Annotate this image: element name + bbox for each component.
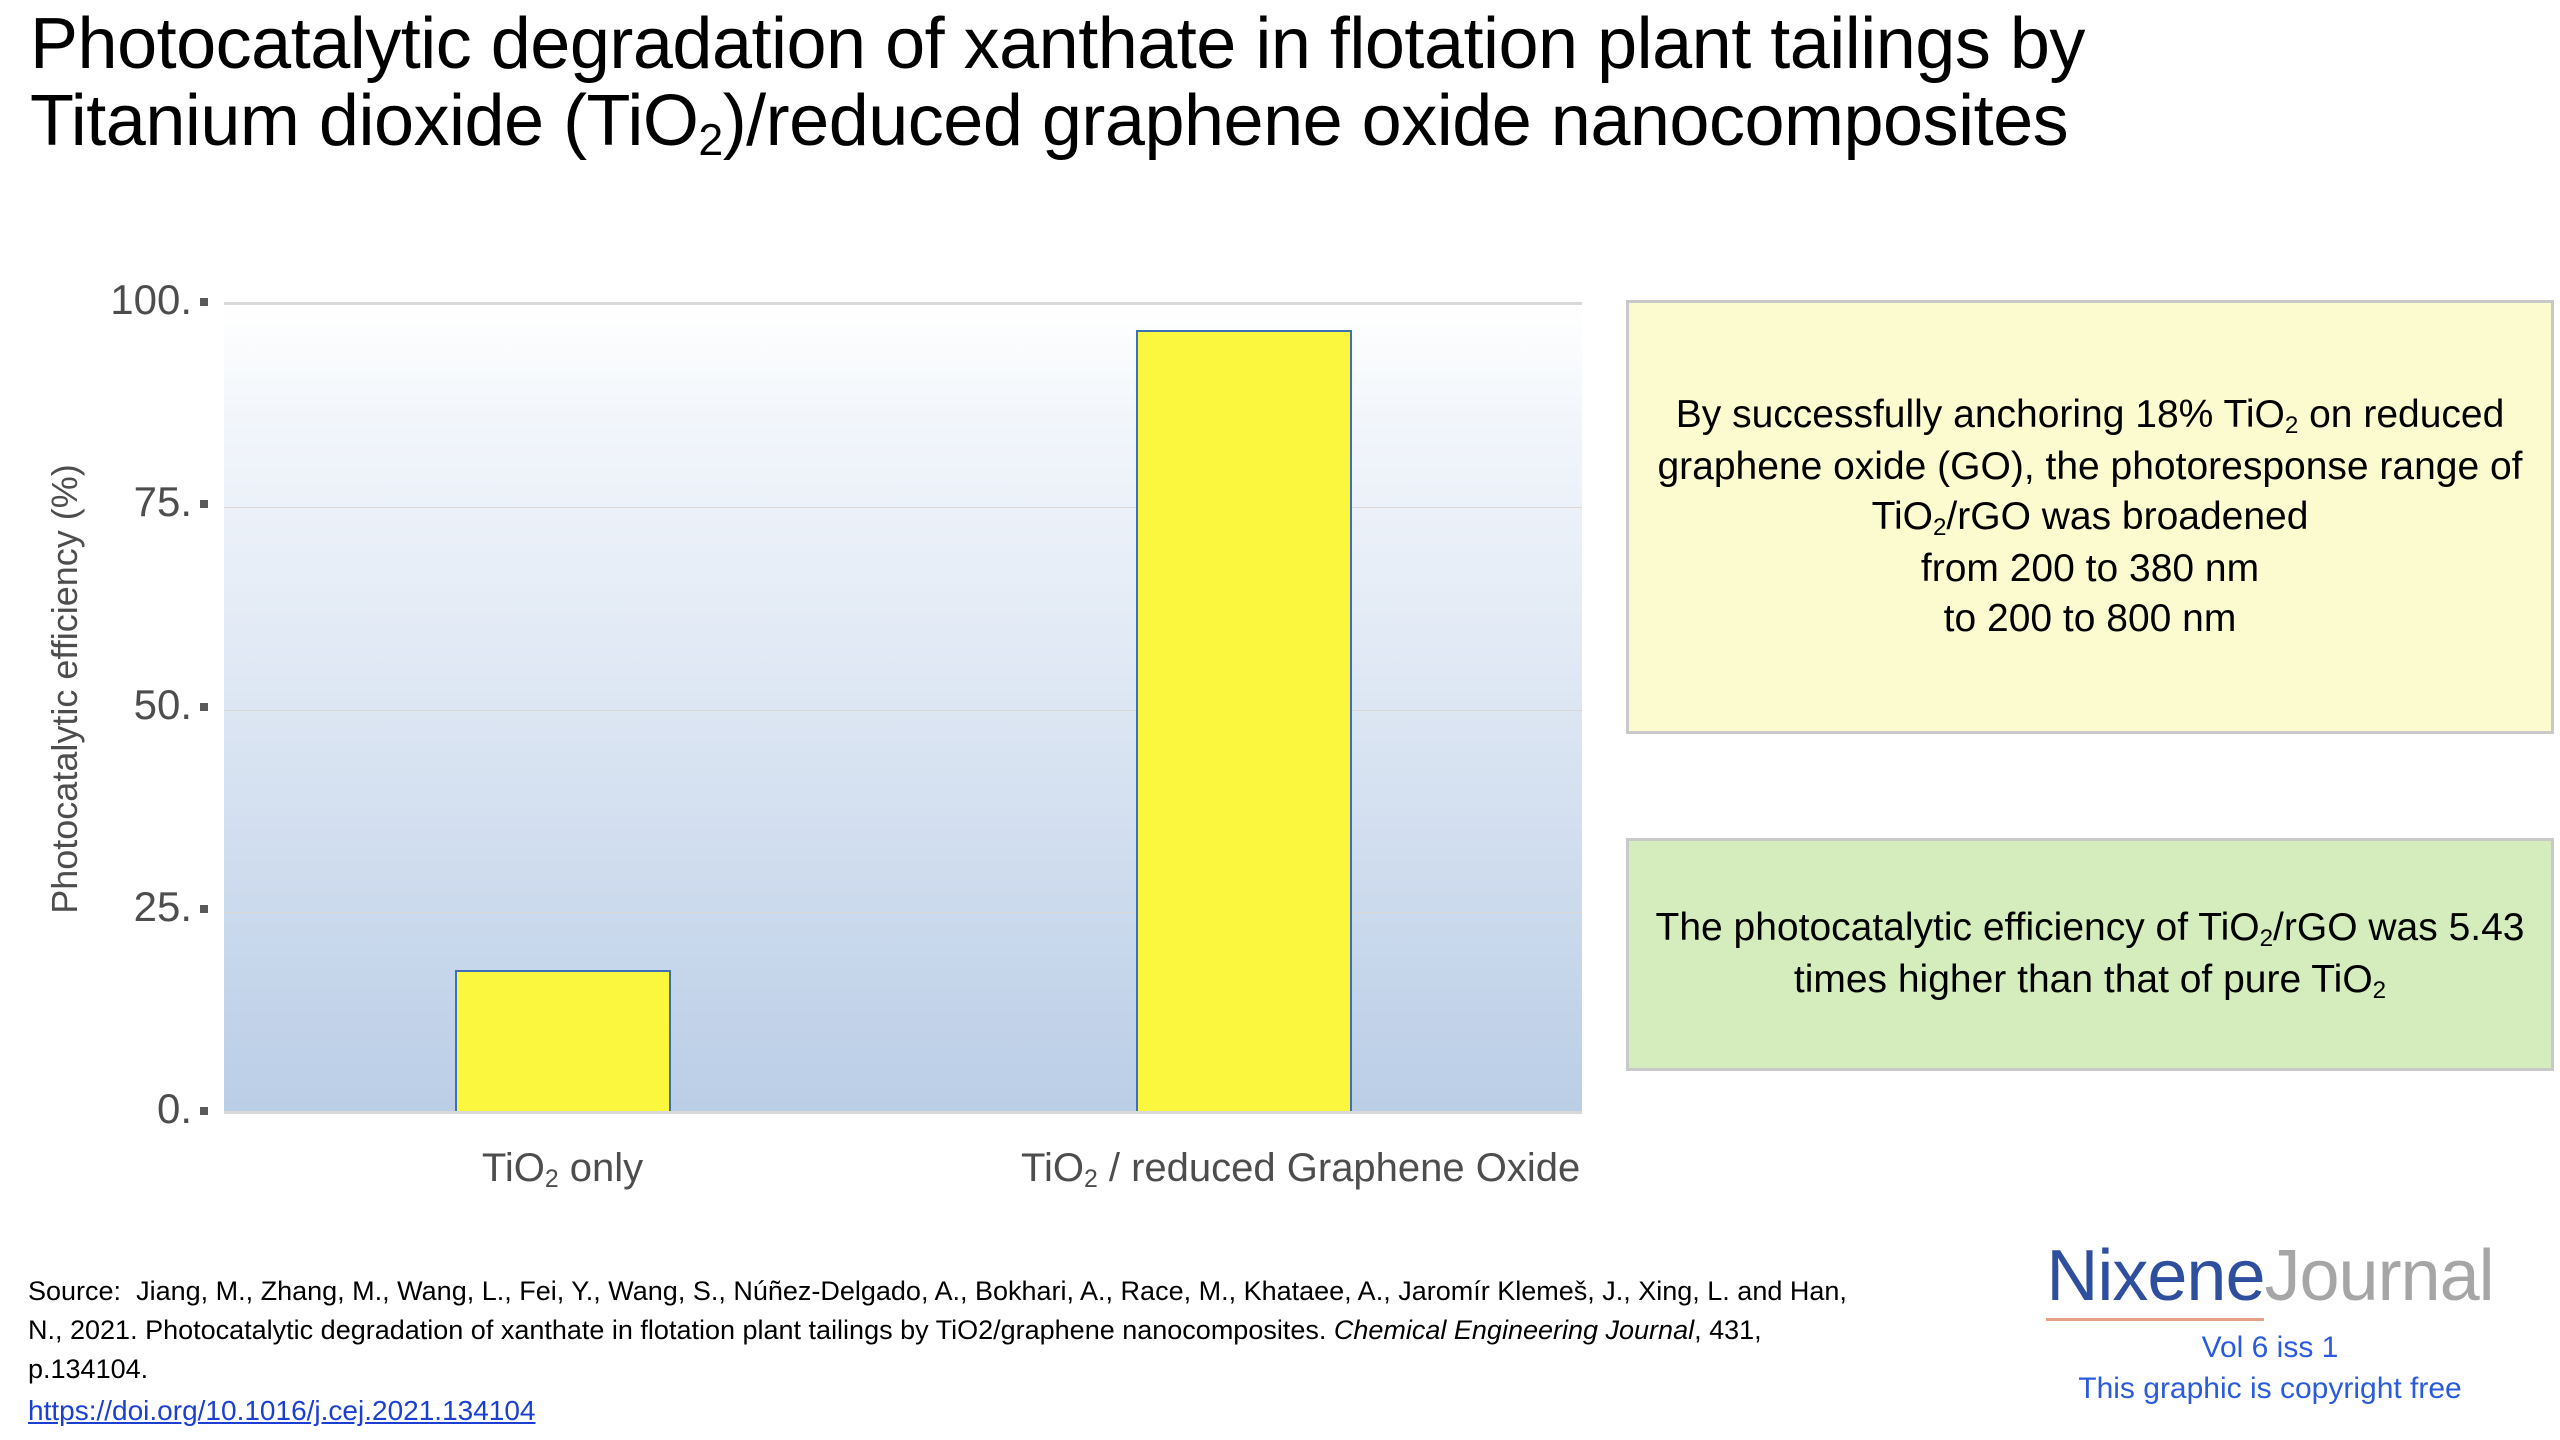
logo-nixene-text: Nixene — [2046, 1236, 2264, 1321]
gridline-25 — [224, 912, 1582, 913]
y-tick-mark — [200, 1107, 208, 1115]
source-label: Source: — [28, 1276, 121, 1306]
bar-chart: Photocatalytic efficiency (%) 100. 75. 5… — [0, 268, 1600, 1168]
page-title-line-2-part-a: Titanium dioxide (TiO — [30, 81, 698, 161]
source-journal: Chemical Engineering Journal — [1334, 1315, 1694, 1345]
y-tick-mark — [200, 298, 208, 306]
copyright-label: This graphic is copyright free — [1990, 1369, 2550, 1410]
x-label-tio2-only: TiO2 only — [340, 1146, 785, 1194]
callout-yellow: By successfully anchoring 18% TiO2 on re… — [1626, 300, 2554, 734]
doi-link[interactable]: https://doi.org/10.1016/j.cej.2021.13410… — [28, 1391, 536, 1432]
gridline-50 — [224, 710, 1582, 711]
y-tick-mark — [200, 905, 208, 913]
source-citation: Source: Jiang, M., Zhang, M., Wang, L., … — [28, 1272, 1888, 1432]
x-label-tio2-rgo: TiO2 / reduced Graphene Oxide — [1021, 1146, 1466, 1194]
page-title: Photocatalytic degradation of xanthate i… — [30, 6, 2550, 165]
nixene-journal-logo: NixeneJournal — [2046, 1240, 2493, 1312]
branding: NixeneJournal Vol 6 iss 1 This graphic i… — [1990, 1240, 2550, 1409]
bar-tio2-only[interactable] — [455, 970, 671, 1114]
page-title-line-2: Titanium dioxide (TiO2)/reduced graphene… — [30, 83, 2550, 165]
callout-yellow-text: By successfully anchoring 18% TiO2 on re… — [1653, 390, 2527, 643]
x-axis-line — [224, 1111, 1582, 1114]
bar-tio2-rgo[interactable] — [1136, 330, 1352, 1114]
logo-journal-text: Journal — [2264, 1236, 2493, 1316]
y-axis-tick-labels: 100. 75. 50. 25. 0. — [20, 268, 200, 1113]
callout-green: The photocatalytic efficiency of TiO2/rG… — [1626, 838, 2554, 1071]
page-title-subscript: 2 — [698, 116, 722, 165]
volume-issue-label: Vol 6 iss 1 — [1990, 1328, 2550, 1369]
y-tick-mark — [200, 703, 208, 711]
gridline-75 — [224, 507, 1582, 508]
callout-green-text: The photocatalytic efficiency of TiO2/rG… — [1653, 903, 2527, 1007]
plot-area — [224, 302, 1582, 1114]
source-article-title: Photocatalytic degradation of xanthate i… — [145, 1315, 1326, 1345]
y-tick-mark — [200, 500, 208, 508]
page-title-line-1: Photocatalytic degradation of xanthate i… — [30, 6, 2550, 83]
page-title-line-2-part-b: )/reduced graphene oxide nanocomposites — [723, 81, 2068, 161]
